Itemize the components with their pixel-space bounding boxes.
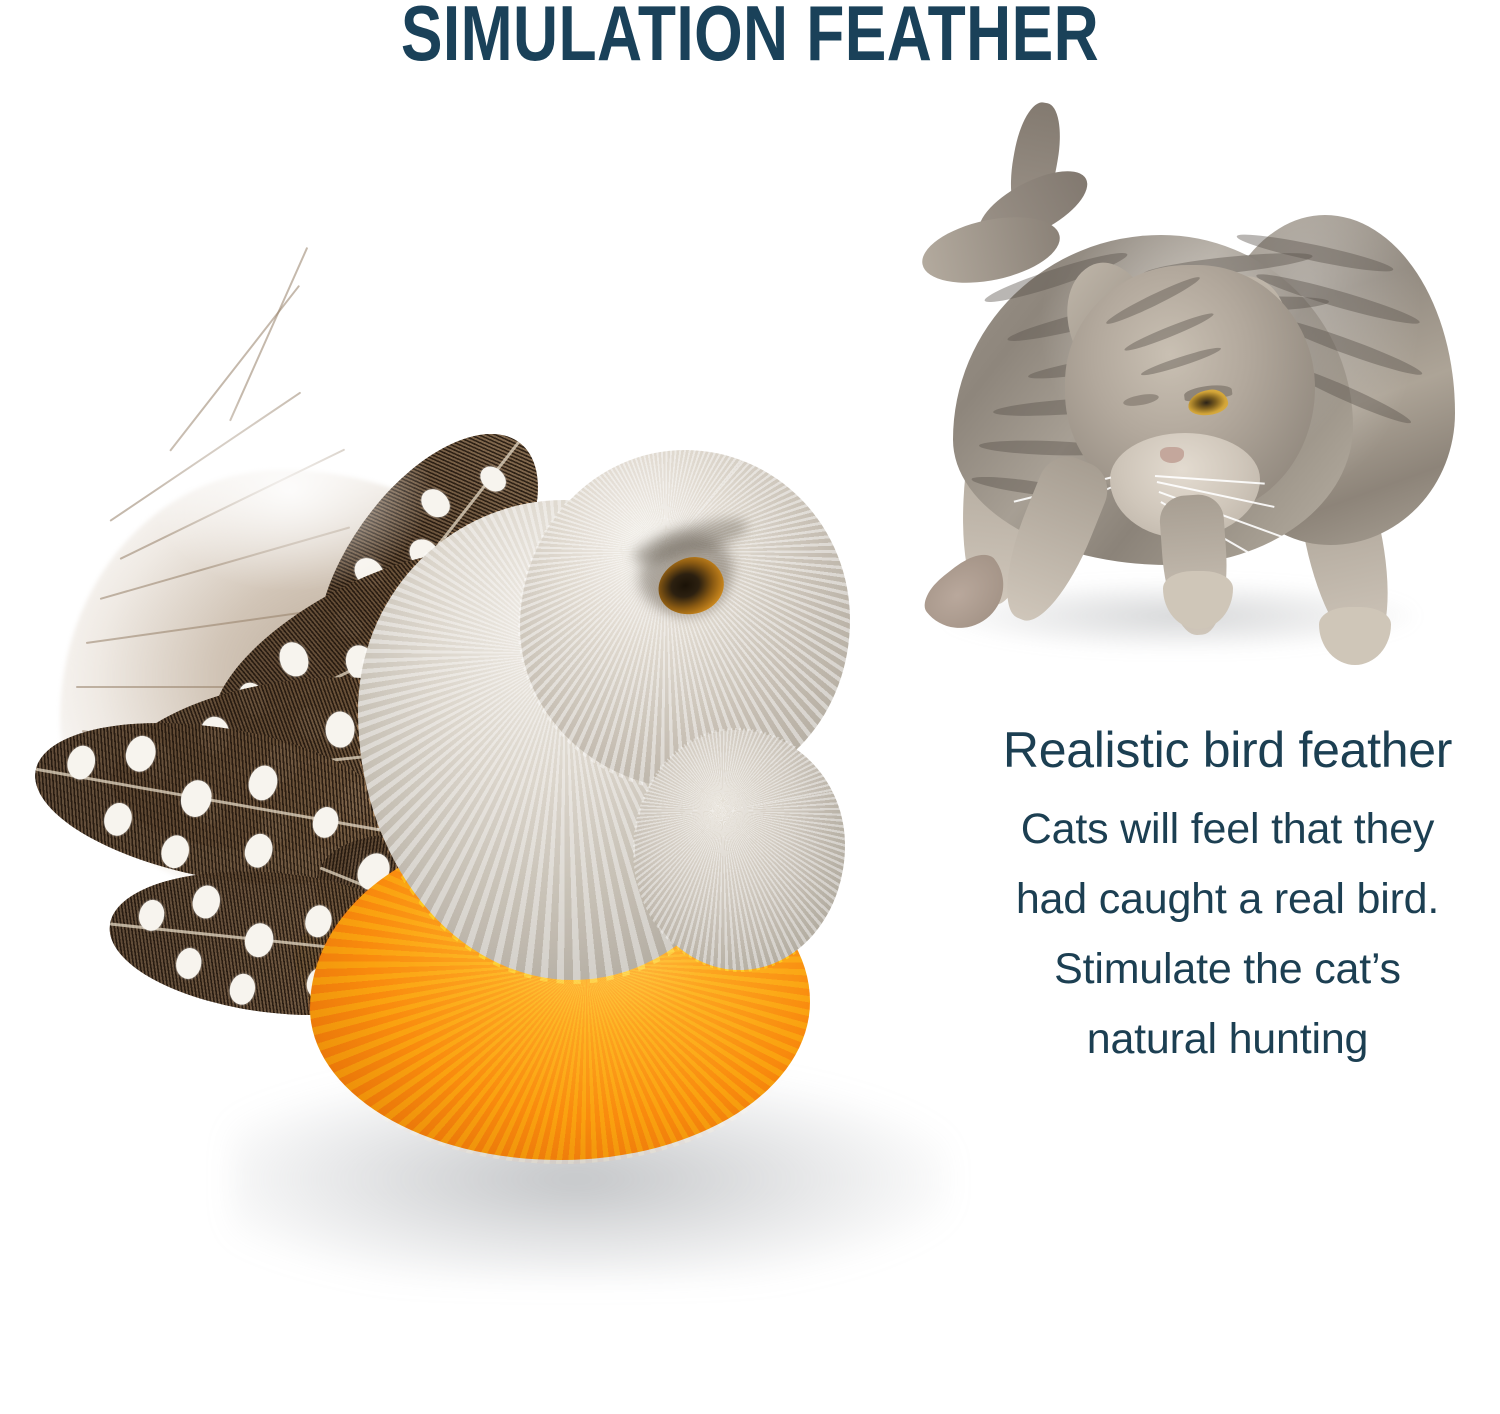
product-marketing-canvas: SIMULATION FEATHER Realistic bird feathe… bbox=[0, 0, 1500, 1414]
feather-tip-highlight bbox=[150, 390, 430, 590]
feature-body-line-3: Stimulate the cat’s bbox=[955, 948, 1500, 991]
page-title: SIMULATION FEATHER bbox=[150, 0, 1350, 72]
cat-nose bbox=[1160, 447, 1184, 463]
feature-copy-block: Realistic bird feather Cats will feel th… bbox=[955, 722, 1500, 1061]
feature-body-line-2: had caught a real bird. bbox=[955, 878, 1500, 921]
cat-paw-hind-right bbox=[1319, 607, 1391, 665]
feature-headline: Realistic bird feather bbox=[955, 722, 1500, 778]
bird-toy-cheek-texture bbox=[633, 728, 847, 972]
bird-toy-photo bbox=[0, 330, 1010, 1300]
feature-body-line-1: Cats will feel that they bbox=[955, 808, 1500, 851]
feature-body-line-4: natural hunting bbox=[955, 1018, 1500, 1061]
